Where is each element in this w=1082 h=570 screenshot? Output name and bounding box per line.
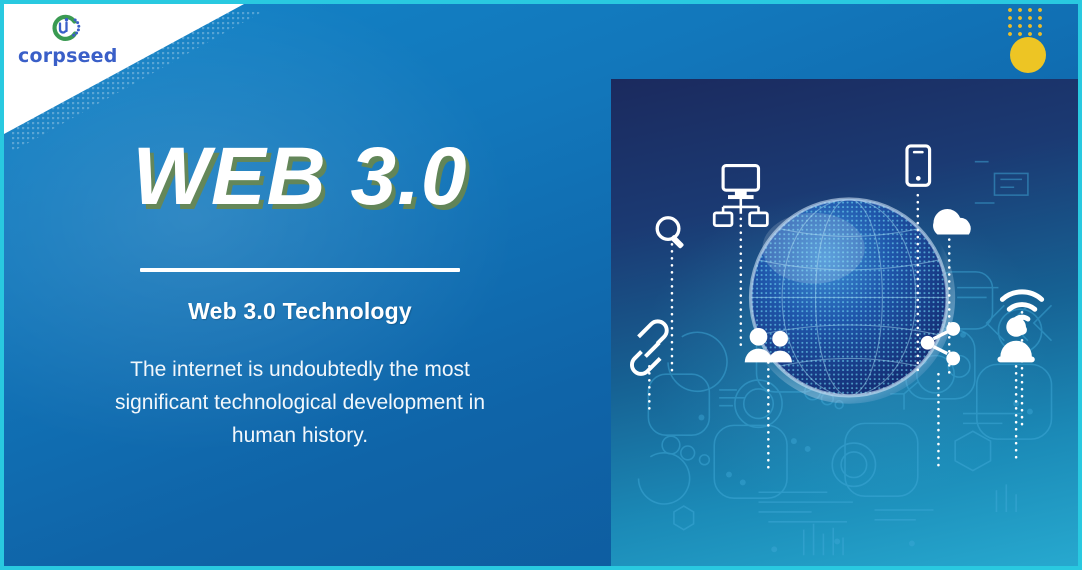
hero-text-column: WEB 3.0 Web 3.0 Technology The internet … — [4, 4, 596, 566]
smartphone-icon — [907, 146, 930, 185]
page-title: WEB 3.0 — [132, 136, 467, 218]
web3-banner: corpseed WEB 3.0 Web 3.0 Technology The … — [0, 0, 1082, 570]
network-icon — [714, 166, 767, 226]
title-divider — [140, 268, 460, 272]
hero-subtitle: Web 3.0 Technology — [188, 298, 412, 325]
network-illustration — [611, 79, 1082, 570]
illustration-panel — [611, 79, 1082, 570]
cloud-icon — [933, 209, 971, 234]
hero-description: The internet is undoubtedly the most sig… — [90, 353, 510, 453]
yellow-circle-icon — [1010, 37, 1046, 73]
yellow-dot-grid-icon — [1008, 8, 1048, 40]
globe-highlight — [762, 213, 864, 284]
